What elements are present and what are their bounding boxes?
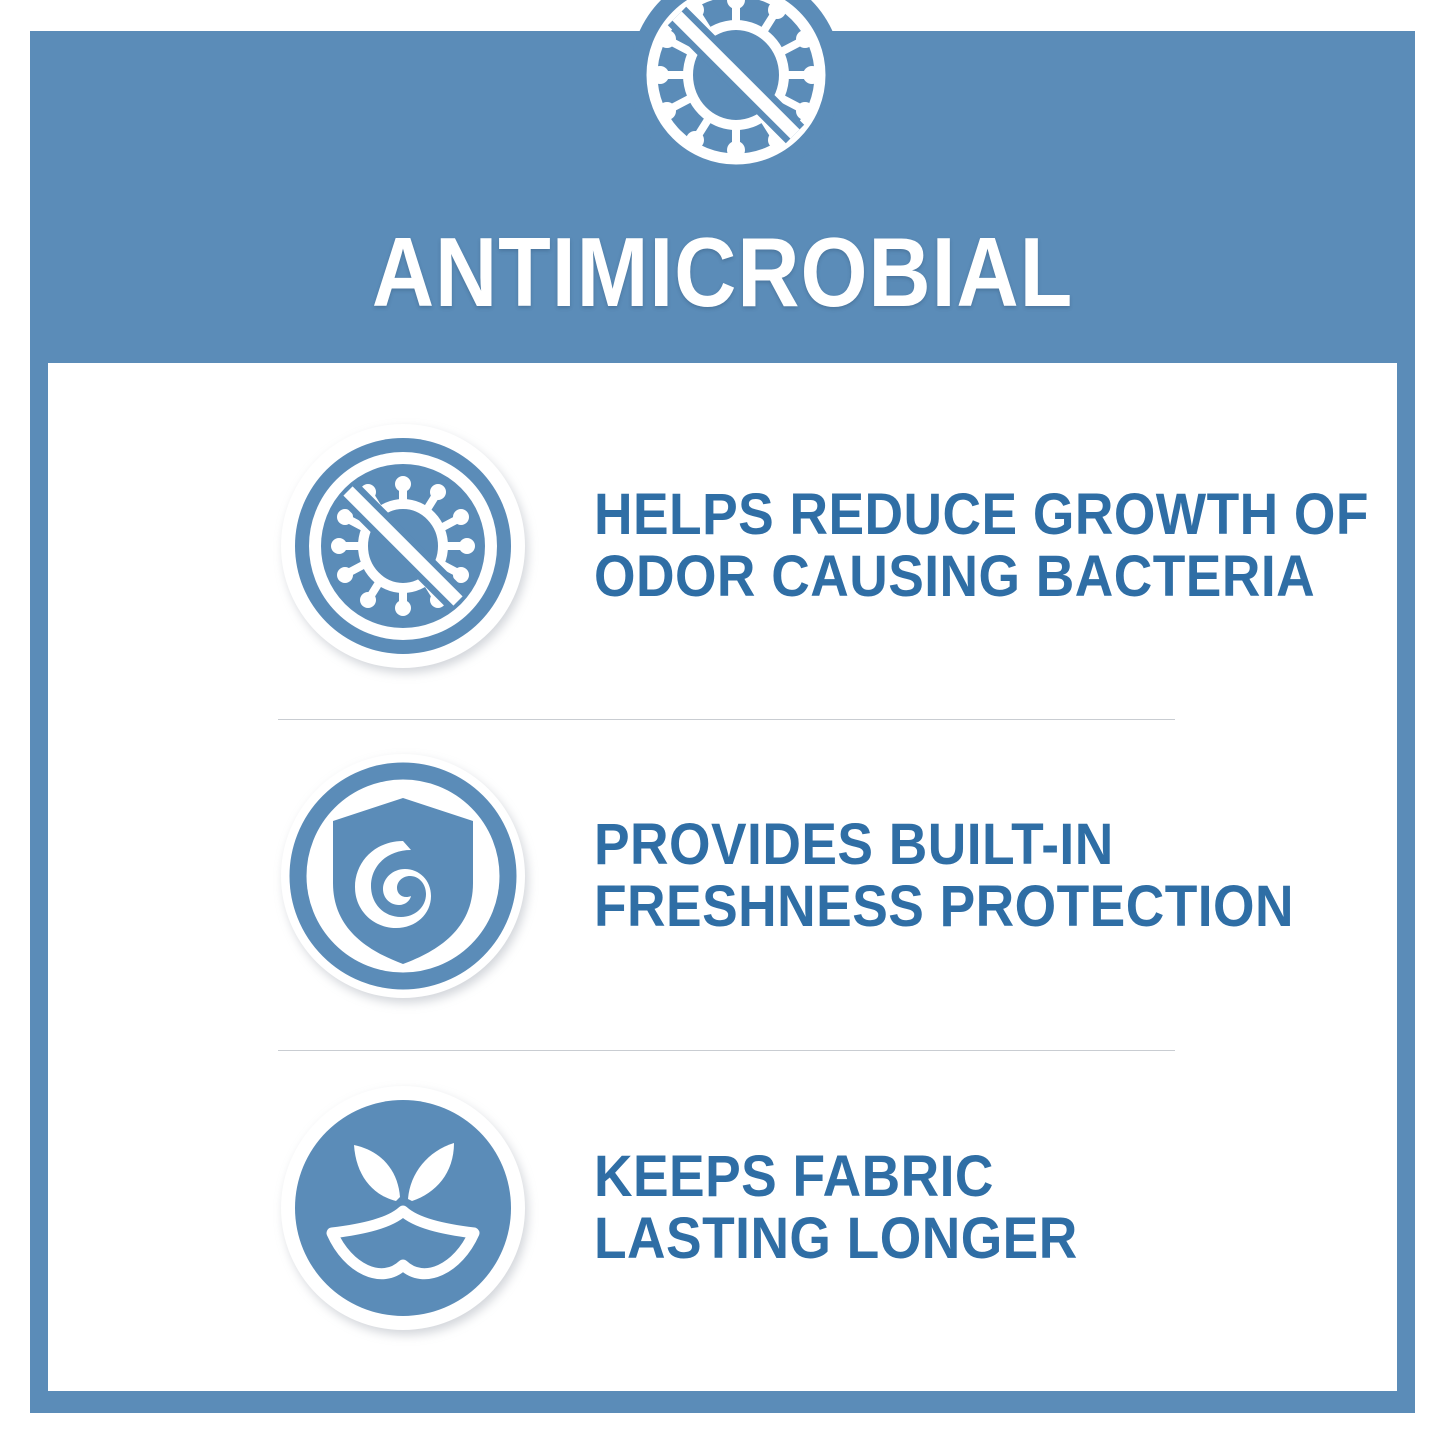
- no-germs-badge-icon: [278, 421, 528, 671]
- feature-list: HELPS REDUCE GROWTH OF ODOR CAUSING BACT…: [48, 363, 1397, 1391]
- list-item-line-2: LASTING LONGER: [594, 1208, 1078, 1270]
- header: ANTIMICROBIAL: [30, 0, 1415, 363]
- list-item-text: PROVIDES BUILT-IN FRESHNESS PROTECTION: [594, 814, 1294, 938]
- list-item-line-2: ODOR CAUSING BACTERIA: [594, 546, 1369, 608]
- antimicrobial-infographic: ANTIMICROBIAL: [0, 0, 1445, 1445]
- list-item-line-1: PROVIDES BUILT-IN: [594, 814, 1294, 876]
- list-item-line-1: KEEPS FABRIC: [594, 1146, 1078, 1208]
- list-item: PROVIDES BUILT-IN FRESHNESS PROTECTION: [48, 731, 1397, 1021]
- list-item-text: HELPS REDUCE GROWTH OF ODOR CAUSING BACT…: [594, 484, 1369, 608]
- leaf-sprout-icon: [278, 1083, 528, 1333]
- page-title: ANTIMICROBIAL: [113, 222, 1332, 322]
- no-germs-icon: [630, 0, 842, 181]
- section-divider: [278, 719, 1175, 720]
- section-divider: [278, 1050, 1175, 1051]
- list-item: KEEPS FABRIC LASTING LONGER: [48, 1063, 1397, 1353]
- list-item-line-1: HELPS REDUCE GROWTH OF: [594, 484, 1369, 546]
- shield-protection-icon: [278, 751, 528, 1001]
- list-item: HELPS REDUCE GROWTH OF ODOR CAUSING BACT…: [48, 401, 1397, 691]
- list-item-line-2: FRESHNESS PROTECTION: [594, 876, 1294, 938]
- list-item-text: KEEPS FABRIC LASTING LONGER: [594, 1146, 1078, 1270]
